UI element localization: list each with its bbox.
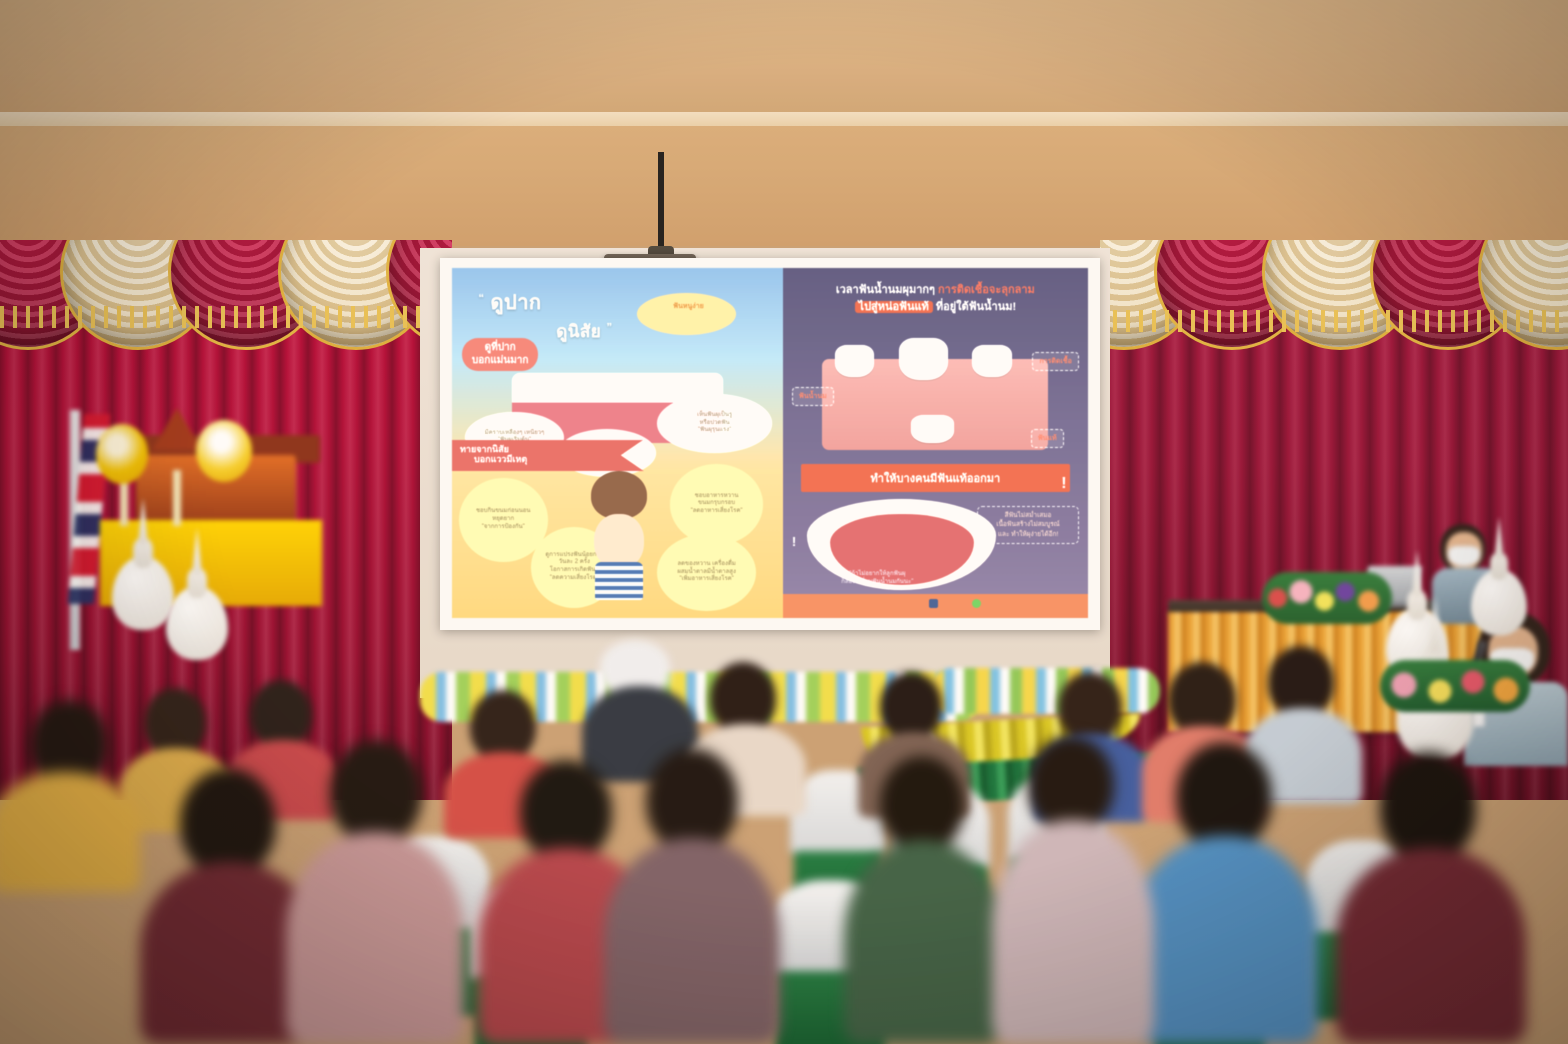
upper-wall [0, 126, 1568, 246]
slide-tag-milk-tooth: ฟันน้ำนม [792, 387, 834, 406]
slide-tag-infection: การติดเชื้อ [1032, 352, 1078, 371]
ceiling [0, 0, 1568, 120]
projector-pole [658, 152, 664, 258]
quote-close: ” [606, 321, 612, 333]
flower-vase-right [196, 420, 252, 482]
slide-left-band-line1: ทายจากนิสัย [460, 444, 636, 455]
slide-right-band: ทำให้บางคนมีฟันแท้ออกมา [801, 464, 1070, 492]
slide-left-band: ทายจากนิสัย บอกแววมีเหตุ [452, 440, 644, 472]
slide-footer-bar [783, 594, 1088, 619]
headline-1b: การติดเชื้อจะลุกลาม [938, 284, 1035, 296]
exclamation-left: ! [792, 534, 796, 549]
slide-right-caption: "ถ้าไม่อยากให้ลูกฟันผุ ก็ลองเปลี่ยนฟันน้… [813, 570, 941, 587]
shrine-finial-right [166, 530, 228, 660]
presentation-slide: “ ดูปาก ดูนิสัย ” ฟันหนูง่าย ดูที่ปาก บอ… [452, 268, 1088, 618]
stage-flower-arrangement-right [1380, 660, 1530, 712]
headline-2b: ที่อยู่ใต้ฟันน้ำนม! [936, 301, 1016, 313]
slide-corner-badge-label: ฟันหนูง่าย [644, 301, 733, 312]
curtain-valance-left [0, 240, 452, 360]
facebook-icon [929, 599, 938, 608]
curtain-valance-right [1100, 240, 1568, 360]
headline-2a: ไปสู่หน่อฟันแท้ [855, 301, 933, 313]
slide-right-headline: เวลาฟันน้ำนมผุมากๆ การติดเชื้อจะลุกลาม ไ… [795, 282, 1076, 315]
slide-right-note: สีฟันไม่สม่ำเสมอ เนื้อฟันสร้างไม่สมบูรณ์… [977, 506, 1079, 544]
flower-vase-left [96, 424, 148, 484]
slide-left-panel: “ ดูปาก ดูนิสัย ” ฟันหนูง่าย ดูที่ปาก บอ… [452, 268, 783, 618]
slide-right-panel: เวลาฟันน้ำนมผุมากๆ การติดเชื้อจะลุกลาม ไ… [783, 268, 1088, 618]
tooth-right [972, 345, 1012, 377]
id-badge [1472, 710, 1485, 727]
slide-corner-badge-bubble [637, 293, 736, 335]
slide-left-band-line2: บอกแววมีเหตุ [474, 454, 636, 465]
slide-red-pill: ดูที่ปาก บอกแม่นมาก [462, 338, 539, 371]
slide-circle-topright: ชอบอาหารหวาน ขนมกรุบกรอบ "ลดอาหารเสี่ยงโ… [670, 464, 763, 545]
slide-tag-permanent-tooth: ฟันแท้ [1031, 429, 1064, 448]
slide-kid-illustration [591, 471, 647, 597]
slide-circle-bottomright: ลดของหวาน เครื่องดื่ม ผสมน้ำตาลมีน้ำตาลส… [657, 534, 756, 611]
tooth-center [899, 338, 948, 380]
shrine-finial-left [112, 500, 174, 630]
candle-right [173, 470, 181, 526]
exclamation-right: ! [1061, 475, 1066, 493]
slide-title-line1: ดูปาก [491, 292, 542, 314]
slide-cloud-right: เห็นฟันผุเป็นรู หรือปวดฟัน "ฟันผุรุนแรง" [657, 394, 772, 453]
line-icon [972, 599, 981, 608]
quote-open: “ [478, 292, 484, 304]
projection-screen: “ ดูปาก ดูนิสัย ” ฟันหนูง่าย ดูที่ปาก บอ… [440, 258, 1100, 630]
auditorium-photo: “ ดูปาก ดูนิสัย ” ฟันหนูง่าย ดูที่ปาก บอ… [0, 0, 1568, 1044]
slide-title-line2: ดูนิสัย [556, 322, 601, 341]
tooth-left [835, 345, 875, 377]
headline-1a: เวลาฟันน้ำนมผุมากๆ [836, 284, 935, 296]
tooth-bud [911, 415, 954, 443]
stage-finial-right [1471, 519, 1527, 636]
stage-flower-bank-right [930, 668, 1160, 714]
table-flower-arrangement [1262, 572, 1392, 624]
